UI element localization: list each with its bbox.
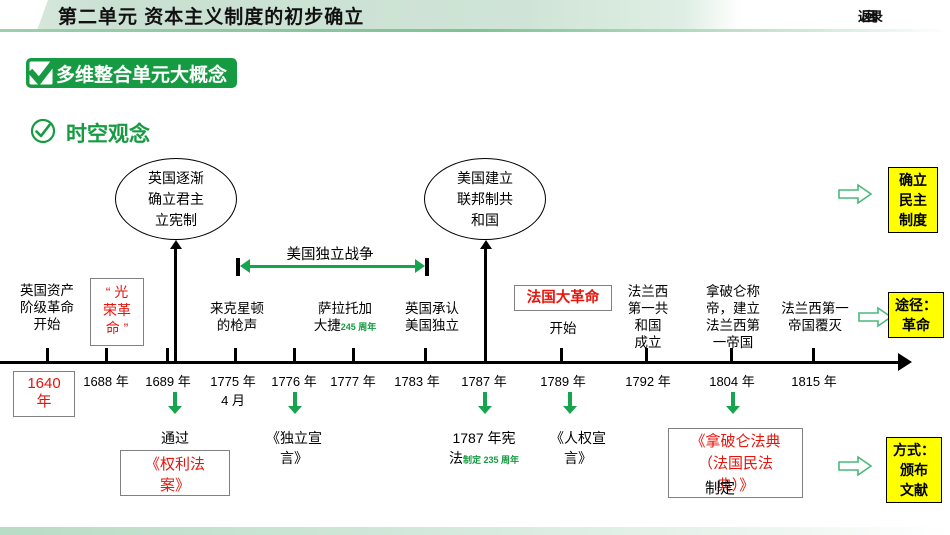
- box-line: 《拿破仑法典: [669, 431, 802, 453]
- hollow-arrow-right-icon: [838, 455, 872, 477]
- year-label: 1792 年: [625, 371, 671, 390]
- event-line: 的枪声: [210, 317, 264, 334]
- event-line: 法兰西: [628, 283, 669, 300]
- bottom-line: 1787 年宪: [449, 428, 519, 448]
- header-left-slant: [0, 0, 48, 30]
- axis-tick: [352, 348, 355, 362]
- hollow-arrow-right-icon: [838, 183, 872, 205]
- year-value: 1689 年: [145, 374, 191, 389]
- axis-tick: [424, 348, 427, 362]
- arrow-down-icon: [288, 392, 302, 414]
- year-value: 1789 年: [540, 374, 586, 389]
- box-line: 《权利法: [121, 454, 229, 475]
- ellipse-line: 立宪制: [148, 210, 204, 231]
- year-label: 1804 年: [709, 371, 755, 390]
- axis-tick: [166, 348, 169, 362]
- napoleonic-code-box: 《拿破仑法典 （法国民法 典）》: [668, 428, 803, 498]
- bottom-line: 通过: [161, 428, 189, 448]
- year-value: 1777 年: [330, 374, 376, 389]
- year-value: 1776 年: [271, 374, 317, 389]
- arrow-down-icon: [726, 392, 740, 414]
- box-line: 典）》: [669, 475, 802, 497]
- axis-tick: [293, 348, 296, 362]
- event-label-french-revolution-start: 开始: [550, 320, 577, 337]
- axis-tick: [560, 348, 563, 362]
- year-value: 1787 年: [461, 374, 507, 389]
- arrow-down-icon: [563, 392, 577, 414]
- french-revolution-box: 法国大革命: [514, 285, 612, 311]
- conclusion-box-method-documents: 方式： 颁布 文献: [886, 437, 942, 503]
- conclusion-line: 革命: [902, 315, 930, 335]
- check-icon: [26, 58, 58, 88]
- year-value: 1815 年: [791, 374, 837, 389]
- bottom-line: 《人权宣: [550, 428, 606, 448]
- bottom-label-1787-constitution: 1787 年宪 法制定 235 周年: [449, 428, 519, 470]
- conclusion-line: 制度: [899, 210, 927, 230]
- event-line: 英国承认: [405, 300, 459, 317]
- box-line: 案》: [121, 475, 229, 496]
- conclusion-line: 文献: [900, 480, 928, 500]
- axis-tick: [234, 348, 237, 362]
- event-label-empire-collapse: 法兰西第一 帝国覆灭: [781, 300, 849, 334]
- ellipse-stem: [484, 249, 487, 361]
- header-underline: [0, 29, 950, 32]
- ellipse-line: 和国: [457, 210, 513, 231]
- bottom-label-bill-of-rights-passed: 通过: [161, 428, 189, 448]
- event-line: 英国资产: [20, 282, 74, 299]
- year-value: 1783 年: [394, 374, 440, 389]
- axis-tick: [105, 348, 108, 362]
- start-year-value: 1640: [14, 375, 74, 393]
- event-label-first-french-republic: 法兰西 第一共 和国 成立: [628, 283, 669, 351]
- year-label: 1789 年: [540, 371, 586, 390]
- conclusion-box-path-revolution: 途径： 革命: [888, 292, 944, 338]
- event-line-text: 大捷: [314, 318, 341, 333]
- war-span-label: 美国独立战争: [287, 243, 374, 264]
- war-span-left-arrow-icon: [240, 259, 250, 273]
- box-line: “ 光: [91, 283, 143, 301]
- event-line: 阶级革命: [20, 299, 74, 316]
- year-label: 1688 年: [83, 371, 129, 390]
- year-label: 1787 年: [461, 371, 507, 390]
- page-title: 第二单元 资本主义制度的初步确立: [58, 2, 364, 29]
- war-span-right-cap: [425, 258, 429, 276]
- event-line: 来克星顿: [210, 300, 264, 317]
- timeline-axis: [0, 361, 900, 364]
- footer-bar: [0, 527, 950, 535]
- event-line: 开始: [550, 320, 577, 337]
- ellipse-stem: [174, 249, 177, 361]
- bottom-line: 法制定 235 周年: [449, 448, 519, 470]
- year-label: 1815 年: [791, 371, 837, 390]
- event-line: 法兰西第一: [781, 300, 849, 317]
- start-year-unit: 年: [14, 393, 74, 411]
- year-label: 1775 年 4 月: [210, 371, 256, 409]
- conclusion-line: 确立: [899, 170, 927, 190]
- war-span-line: [247, 265, 419, 268]
- bottom-label-declaration-of-independence: 《独立宣 言》: [266, 428, 322, 468]
- napoleonic-code-overlay-label: 制定: [705, 477, 735, 498]
- start-year-box: 1640 年: [13, 371, 75, 417]
- ellipse-line: 联邦制共: [457, 189, 513, 210]
- ellipse-stem-arrow-icon: [480, 240, 492, 249]
- axis-tick: [645, 348, 648, 362]
- year-value: 1792 年: [625, 374, 671, 389]
- arrow-down-icon: [478, 392, 492, 414]
- ellipse-usa-federal-republic: 美国建立 联邦制共 和国: [424, 158, 546, 240]
- anniversary-badge: 制定 235 周年: [463, 455, 519, 465]
- section-heading-time-space: 时空观念: [66, 118, 150, 148]
- event-line: 成立: [628, 334, 669, 351]
- bottom-line: 言》: [550, 448, 606, 468]
- war-span-right-arrow-icon: [415, 259, 425, 273]
- return-to-contents-button[interactable]: 返回目录: [858, 6, 874, 25]
- year-label: 1689 年: [145, 371, 191, 390]
- event-line: 美国独立: [405, 317, 459, 334]
- conclusion-line: 民主: [899, 190, 927, 210]
- axis-arrow-icon: [898, 353, 912, 371]
- event-line: 萨拉托加: [314, 300, 377, 317]
- conclusion-line: 方式：: [893, 440, 935, 460]
- ellipse-line: 确立君主: [148, 189, 204, 210]
- arrow-down-icon: [168, 392, 182, 414]
- event-line: 拿破仑称: [706, 283, 760, 300]
- box-line: （法国民法: [669, 453, 802, 475]
- event-label-napoleon-empire: 拿破仑称 帝，建立 法兰西第 一帝国: [706, 283, 760, 351]
- year-label: 1776 年: [271, 371, 317, 390]
- hollow-arrow-right-icon: [858, 306, 892, 328]
- event-line: 帝国覆灭: [781, 317, 849, 334]
- ellipse-line: 美国建立: [457, 168, 513, 189]
- ellipse-line: 英国逐渐: [148, 168, 204, 189]
- axis-tick: [730, 348, 733, 362]
- year-value: 1804 年: [709, 374, 755, 389]
- event-line: 法兰西第: [706, 317, 760, 334]
- year-label: 1783 年: [394, 371, 440, 390]
- conclusion-box-democracy: 确立 民主 制度: [888, 167, 938, 233]
- check-circle-icon: [30, 118, 56, 144]
- year-value: 1775 年: [210, 374, 256, 389]
- glorious-revolution-box: “ 光 荣革 命 ”: [90, 278, 144, 346]
- event-line: 开始: [20, 316, 74, 333]
- event-label-lexington: 来克星顿 的枪声: [210, 300, 264, 334]
- bill-of-rights-box: 《权利法 案》: [120, 450, 230, 496]
- year-value: 1688 年: [83, 374, 129, 389]
- box-line: 荣革: [91, 301, 143, 319]
- bottom-label-declaration-of-rights-of-man: 《人权宣 言》: [550, 428, 606, 468]
- concept-banner-label: 多维整合单元大概念: [56, 60, 227, 87]
- axis-tick: [46, 348, 49, 362]
- axis-tick: [812, 348, 815, 362]
- ellipse-britain-constitutional-monarchy: 英国逐渐 确立君主 立宪制: [115, 158, 237, 240]
- event-label-saratoga: 萨拉托加 大捷245 周年: [314, 300, 377, 336]
- conclusion-line: 颁布: [900, 460, 928, 480]
- year-sub: 4 月: [210, 390, 256, 409]
- event-line: 和国: [628, 317, 669, 334]
- ellipse-stem-arrow-icon: [170, 240, 182, 249]
- event-line: 一帝国: [706, 334, 760, 351]
- event-line: 帝，建立: [706, 300, 760, 317]
- bottom-line-text: 法: [449, 450, 463, 466]
- event-line: 大捷245 周年: [314, 317, 377, 336]
- event-line: 第一共: [628, 300, 669, 317]
- bottom-line: 《独立宣: [266, 428, 322, 448]
- event-label-british-revolution: 英国资产 阶级革命 开始: [20, 282, 74, 333]
- anniversary-badge: 245 周年: [341, 322, 377, 332]
- bottom-line: 言》: [266, 448, 322, 468]
- event-label-britain-recognizes-usa: 英国承认 美国独立: [405, 300, 459, 334]
- box-line: 命 ”: [91, 319, 143, 337]
- year-label: 1777 年: [330, 371, 376, 390]
- box-line: 法国大革命: [527, 290, 600, 306]
- conclusion-line: 途径：: [895, 295, 937, 315]
